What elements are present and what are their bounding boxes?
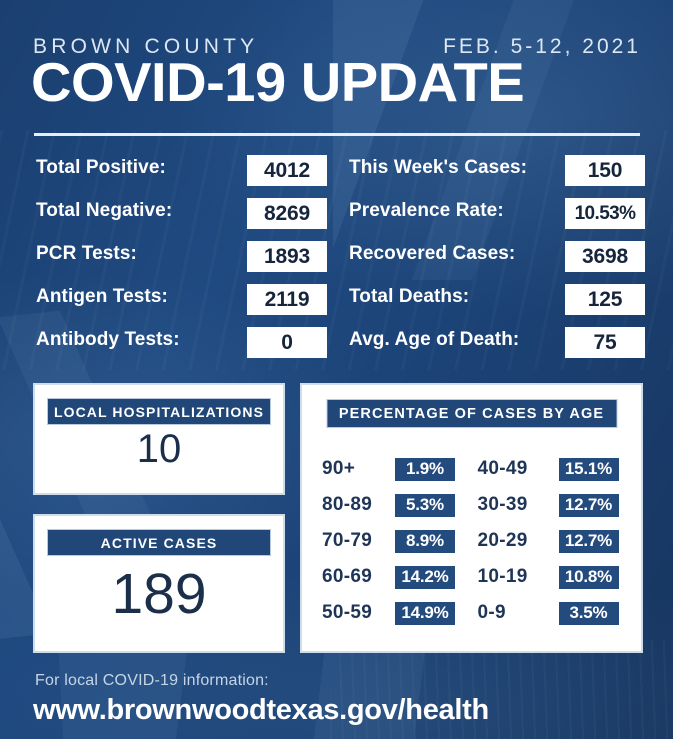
age-percentage: 5.3% [394, 493, 456, 518]
stat-value: 125 [565, 284, 645, 315]
age-percentage: 12.7% [558, 529, 620, 554]
stat-row: Antigen Tests: 2119 Total Deaths: 125 [0, 281, 673, 324]
stat-row: Total Negative: 8269 Prevalence Rate: 10… [0, 195, 673, 238]
panel-title: LOCAL HOSPITALIZATIONS [47, 398, 271, 425]
stat-value: 4012 [247, 155, 327, 186]
age-label: 30-39 [478, 494, 558, 516]
cases-by-age-panel: PERCENTAGE OF CASES BY AGE 90+ 1.9% 40-4… [300, 383, 643, 653]
covid-update-poster: BROWN COUNTY FEB. 5-12, 2021 COVID-19 UP… [0, 0, 673, 739]
stat-value: 0 [247, 327, 327, 358]
age-row-10-19: 10-19 10.8% [472, 559, 642, 595]
age-row-40-49: 40-49 15.1% [472, 451, 642, 487]
age-label: 10-19 [478, 566, 558, 588]
age-row-80-89: 80-89 5.3% [302, 487, 472, 523]
age-row-50-59: 50-59 14.9% [302, 595, 472, 631]
local-hospitalizations-panel: LOCAL HOSPITALIZATIONS 10 [33, 383, 285, 495]
stat-value: 8269 [247, 198, 327, 229]
stat-value: 1893 [247, 241, 327, 272]
stat-value: 2119 [247, 284, 327, 315]
stat-value: 10.53% [565, 198, 645, 229]
header-divider [34, 133, 640, 136]
age-percentage: 8.9% [394, 529, 456, 554]
stat-label: PCR Tests: [36, 238, 241, 269]
stat-label: Total Positive: [36, 152, 241, 183]
stat-value: 3698 [565, 241, 645, 272]
age-row-30-39: 30-39 12.7% [472, 487, 642, 523]
stat-value: 150 [565, 155, 645, 186]
age-label: 20-29 [478, 530, 558, 552]
active-cases-panel: ACTIVE CASES 189 [33, 514, 285, 653]
stat-label: Antibody Tests: [36, 324, 241, 355]
age-percentage: 12.7% [558, 493, 620, 518]
age-percentage: 14.9% [394, 601, 456, 626]
age-label: 80-89 [322, 494, 394, 516]
stat-label: Recovered Cases: [349, 238, 561, 269]
active-cases-value: 189 [35, 566, 283, 623]
age-row-60-69: 60-69 14.2% [302, 559, 472, 595]
age-percentage: 10.8% [558, 565, 620, 590]
stat-value: 75 [565, 327, 645, 358]
panel-title: ACTIVE CASES [47, 529, 271, 556]
age-label: 70-79 [322, 530, 394, 552]
age-label: 40-49 [478, 458, 558, 480]
age-row-90-plus: 90+ 1.9% [302, 451, 472, 487]
age-row-70-79: 70-79 8.9% [302, 523, 472, 559]
stats-grid: Total Positive: 4012 This Week's Cases: … [0, 152, 673, 367]
stat-label: Antigen Tests: [36, 281, 241, 312]
stat-label: Avg. Age of Death: [349, 324, 561, 355]
age-label: 50-59 [322, 602, 394, 624]
age-label: 90+ [322, 458, 394, 480]
stat-label: Total Deaths: [349, 281, 561, 312]
panel-title: PERCENTAGE OF CASES BY AGE [326, 399, 617, 428]
age-label: 0-9 [478, 602, 558, 624]
age-percentage: 14.2% [394, 565, 456, 590]
stat-row: PCR Tests: 1893 Recovered Cases: 3698 [0, 238, 673, 281]
footer-note: For local COVID-19 information: [35, 672, 269, 690]
stat-label: This Week's Cases: [349, 152, 561, 183]
stat-row: Total Positive: 4012 This Week's Cases: … [0, 152, 673, 195]
local-hospitalizations-value: 10 [35, 429, 283, 469]
age-label: 60-69 [322, 566, 394, 588]
age-row-20-29: 20-29 12.7% [472, 523, 642, 559]
stat-row: Antibody Tests: 0 Avg. Age of Death: 75 [0, 324, 673, 367]
stat-label: Total Negative: [36, 195, 241, 226]
age-percentage-grid: 90+ 1.9% 40-49 15.1% 80-89 5.3% 30-39 12… [302, 451, 641, 631]
age-percentage: 3.5% [558, 601, 620, 626]
age-percentage: 15.1% [558, 457, 620, 482]
stat-label: Prevalence Rate: [349, 195, 561, 226]
age-row-0-9: 0-9 3.5% [472, 595, 642, 631]
footer-url[interactable]: www.brownwoodtexas.gov/health [33, 694, 489, 727]
page-title: COVID-19 UPDATE [31, 55, 655, 110]
age-percentage: 1.9% [394, 457, 456, 482]
